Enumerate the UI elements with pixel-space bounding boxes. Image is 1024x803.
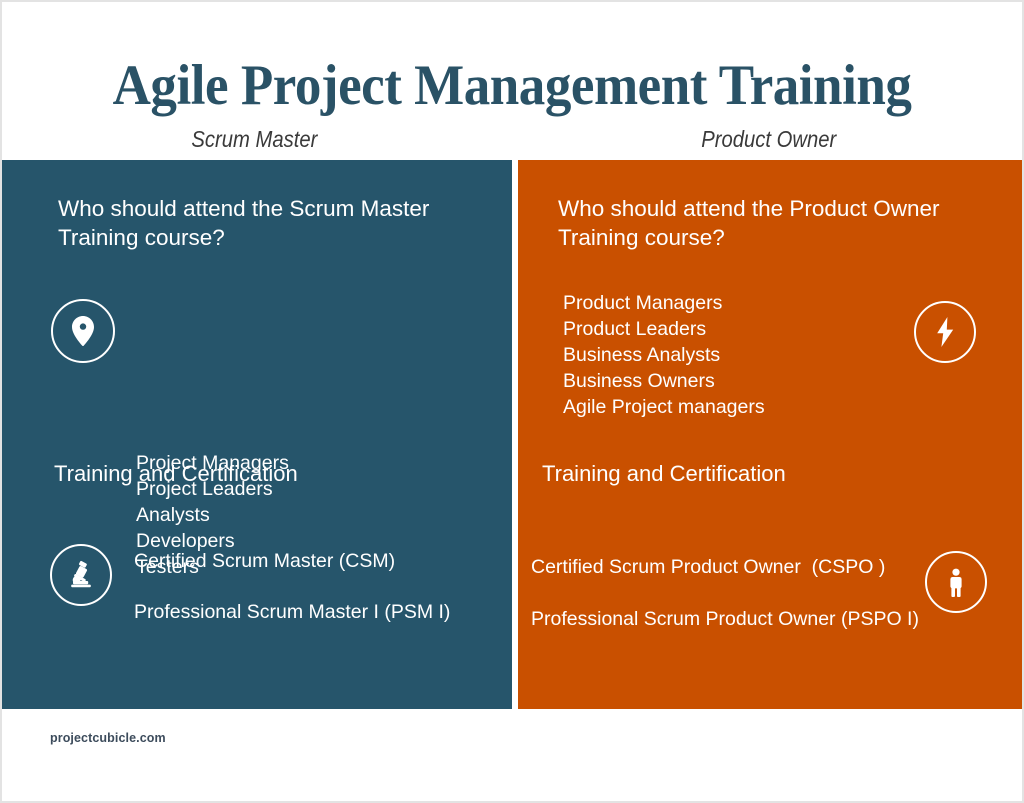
panels-container: Who should attend the Scrum Master Train… — [2, 160, 1022, 709]
location-pin-icon — [51, 299, 115, 363]
header: Agile Project Management Training Scrum … — [2, 2, 1022, 160]
list-item: Certified Scrum Product Owner (CSPO ) — [531, 554, 919, 580]
person-icon — [925, 551, 987, 613]
list-item: Professional Scrum Master I (PSM I) — [134, 599, 450, 625]
list-item: Product Managers — [563, 290, 765, 316]
panel-product-owner: Who should attend the Product Owner Trai… — [518, 160, 1022, 709]
source-attribution: projectcubicle.com — [50, 731, 166, 745]
subtitle-row: Scrum Master Product Owner — [2, 124, 1022, 154]
list-item: Business Owners — [563, 368, 765, 394]
infographic-page: Agile Project Management Training Scrum … — [0, 0, 1024, 803]
lightning-bolt-icon — [914, 301, 976, 363]
section-heading-training-certification-left: Training and Certification — [54, 460, 298, 488]
list-item: Agile Project managers — [563, 394, 765, 420]
list-item: Business Analysts — [563, 342, 765, 368]
audience-list-product-owner: Product Managers Product Leaders Busines… — [563, 290, 765, 420]
subtitle-product-owner: Product Owner — [543, 124, 992, 154]
panel-question-scrum-master: Who should attend the Scrum Master Train… — [58, 194, 458, 252]
panel-question-product-owner: Who should attend the Product Owner Trai… — [558, 194, 968, 252]
section-heading-training-certification-right: Training and Certification — [542, 460, 786, 488]
certification-list-product-owner: Certified Scrum Product Owner (CSPO ) Pr… — [531, 554, 919, 632]
list-item: Analysts — [136, 502, 289, 528]
list-item: Product Leaders — [563, 316, 765, 342]
panel-scrum-master: Who should attend the Scrum Master Train… — [2, 160, 512, 709]
list-item: Certified Scrum Master (CSM) — [134, 548, 450, 574]
list-item: Professional Scrum Product Owner (PSPO I… — [531, 606, 919, 632]
certification-list-scrum-master: Certified Scrum Master (CSM) Professiona… — [134, 548, 450, 625]
subtitle-scrum-master: Scrum Master — [33, 124, 482, 154]
microscope-icon — [50, 544, 112, 606]
page-title: Agile Project Management Training — [38, 54, 987, 118]
